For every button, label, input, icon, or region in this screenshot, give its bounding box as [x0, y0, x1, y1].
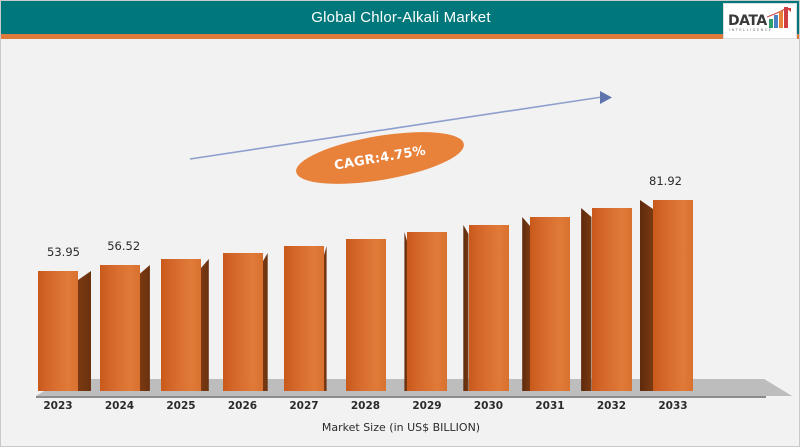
x-tick-2024: 2024 [90, 400, 150, 412]
bar-front-face [38, 271, 78, 391]
bar-2028[interactable] [346, 239, 386, 391]
bar-2023[interactable] [38, 271, 78, 391]
logo-inner: DATA INTELLIGENCE [726, 6, 794, 36]
brand-logo: DATA INTELLIGENCE [723, 3, 797, 39]
bar-2029[interactable] [407, 232, 447, 391]
bar-2024[interactable] [100, 265, 140, 391]
chart-plot-area: CAGR:4.75% 53.9556.5281.92 Market Size (… [2, 39, 800, 447]
bar-front-face [407, 232, 447, 391]
x-tick-2029: 2029 [397, 400, 457, 412]
bar-front-face [530, 217, 570, 391]
x-tick-2030: 2030 [459, 400, 519, 412]
bar-side-face [78, 271, 91, 391]
bar-2031[interactable] [530, 217, 570, 391]
bar-front-face [284, 246, 324, 391]
x-tick-2026: 2026 [213, 400, 273, 412]
bar-front-face [653, 200, 693, 391]
bar-side-face [640, 200, 653, 391]
bar-2027[interactable] [284, 246, 324, 391]
bar-value-label: 56.52 [99, 239, 149, 253]
bar-front-face [346, 239, 386, 391]
bar-front-face [469, 225, 509, 391]
x-tick-2025: 2025 [151, 400, 211, 412]
logo-bar-4-icon [784, 7, 788, 28]
bar-2032[interactable] [592, 208, 632, 391]
bar-side-face [324, 246, 327, 391]
bar-front-face [100, 265, 140, 391]
bar-2033[interactable] [653, 200, 693, 391]
x-axis-line [36, 396, 766, 398]
x-tick-2032: 2032 [582, 400, 642, 412]
logo-bar-2-icon [774, 15, 778, 28]
logo-bar-1-icon [769, 19, 773, 28]
bar-front-face [161, 259, 201, 391]
bar-side-face [201, 259, 209, 391]
bar-value-label: 81.92 [639, 174, 692, 188]
logo-tagline: INTELLIGENCE [729, 28, 773, 32]
axis-title: Market Size (in US$ BILLION) [2, 421, 800, 434]
logo-wordmark: DATA [728, 13, 767, 29]
bar-front-face [223, 253, 263, 391]
bar-2030[interactable] [469, 225, 509, 391]
bar-value-label: 53.95 [37, 245, 90, 259]
bar-side-face [140, 265, 150, 391]
x-tick-2027: 2027 [274, 400, 334, 412]
logo-bar-3-icon [779, 11, 783, 28]
x-tick-2023: 2023 [28, 400, 88, 412]
x-tick-2033: 2033 [643, 400, 703, 412]
bar-series: 53.9556.5281.92 [2, 39, 800, 447]
bar-2026[interactable] [223, 253, 263, 391]
x-tick-2028: 2028 [336, 400, 396, 412]
page-title: Global Chlor-Alkali Market [1, 1, 800, 34]
x-tick-2031: 2031 [520, 400, 580, 412]
bar-front-face [592, 208, 632, 391]
bar-side-face [263, 253, 268, 391]
bar-side-face [522, 217, 530, 391]
bar-2025[interactable] [161, 259, 201, 391]
bar-side-face [581, 208, 591, 391]
chart-frame: Global Chlor-Alkali Market DATA INTELLIG… [0, 0, 800, 447]
